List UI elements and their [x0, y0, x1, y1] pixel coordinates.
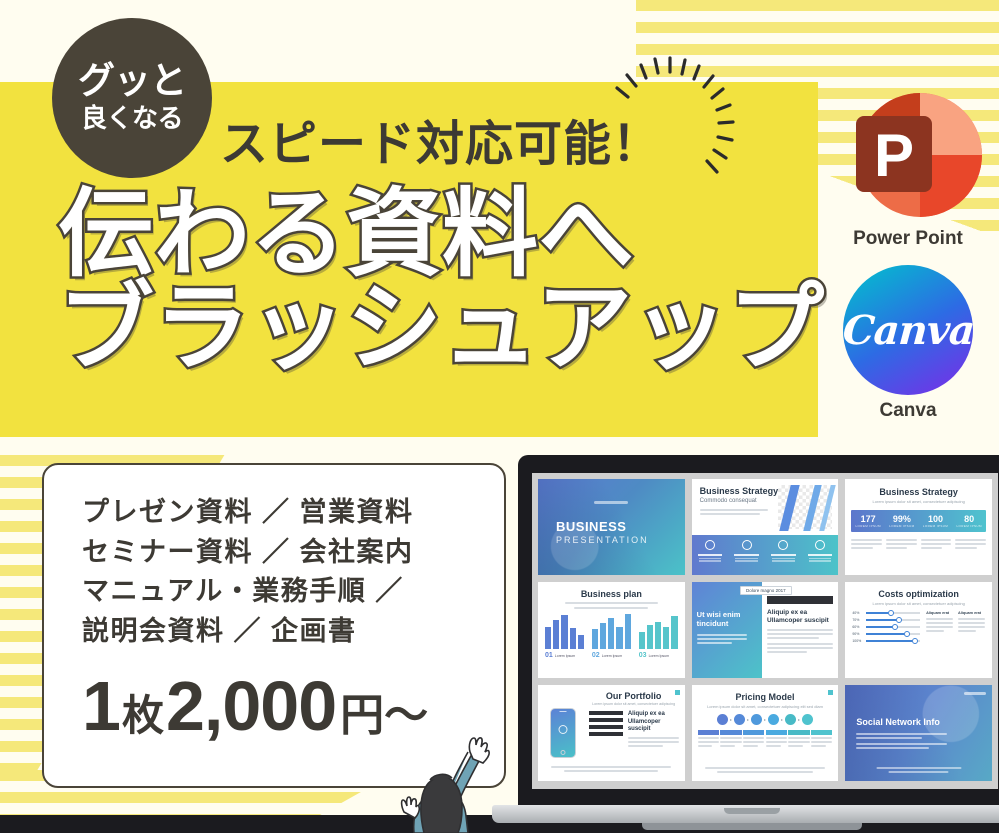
slider-label: 60%: [852, 625, 863, 629]
group-label: Lorem Ipsum: [555, 654, 575, 658]
accent-square: [675, 690, 680, 695]
stat-value: 99%: [885, 514, 919, 524]
slide-tag: Dolore magno 2017: [740, 586, 792, 595]
sub-headline: スピード対応可能！: [220, 104, 661, 174]
slide-logo-placeholder: [594, 501, 628, 504]
slide-thumbnail[interactable]: Business Strategy Commodo consequat: [692, 479, 839, 575]
slide-title: Business Strategy: [851, 487, 986, 497]
slide-thumbnail[interactable]: Ut wisi enim tincidunt Dolore magno 2017: [692, 582, 839, 678]
slide-title: BUSINESS: [556, 519, 626, 534]
link-icon: [785, 714, 796, 725]
slide-thumbnail[interactable]: BUSINESS PRESENTATION: [538, 479, 685, 575]
slide-right-heading: Aliquip ex ea: [628, 711, 679, 719]
stat-value: 100: [919, 514, 953, 524]
headline-line-1: 伝わる資料へ: [58, 188, 824, 282]
slide-thumbnail-grid: BUSINESS PRESENTATION Business Strategy …: [538, 479, 992, 781]
check-icon: [802, 714, 813, 725]
main-headline: 伝わる資料へ ブラッシュアップ: [58, 188, 824, 376]
group-label: Lorem Ipsum: [602, 654, 622, 658]
column-heading: Aliquam erat: [926, 611, 953, 615]
thumbs-up-icon: [751, 714, 762, 725]
stat-label: LOREM IPSUM: [851, 524, 885, 528]
headline-line-2: ブラッシュアップ: [58, 282, 824, 376]
slide-subtitle: Lorem ipsum dolor sit amet, consectetuer…: [698, 704, 833, 709]
slide-subtitle: PRESENTATION: [556, 535, 649, 545]
clock-icon: [742, 540, 752, 550]
powerpoint-icon: P: [832, 88, 984, 223]
slide-title: Business plan: [545, 589, 678, 599]
accent-square: [828, 690, 833, 695]
pie-chart-icon: [705, 540, 715, 550]
laptop-body: BUSINESS PRESENTATION Business Strategy …: [518, 455, 999, 805]
service-line-3: マニュアル・業務手順 ／: [82, 572, 504, 612]
price-quantity: 1: [82, 666, 120, 746]
price-currency: 円: [340, 679, 384, 743]
powerpoint-letter: P: [874, 122, 914, 189]
document-icon: [768, 714, 779, 725]
slide-thumbnail[interactable]: Business plan: [538, 582, 685, 678]
laptop-screen: BUSINESS PRESENTATION Business Strategy …: [532, 473, 998, 789]
slide-thumbnail[interactable]: Our Portfolio Lorem ipsum dolor sit amet…: [538, 685, 685, 781]
group-number: 03: [639, 652, 647, 659]
slide-right-heading-2: Ullamcoper suscipit: [628, 719, 679, 734]
slide-title: Pricing Model: [698, 692, 833, 702]
slide-thumbnail[interactable]: Costs optimization Lorem ipsum dolor sit…: [845, 582, 992, 678]
woman-raising-hand-illustration: [380, 700, 530, 833]
slider-label: 90%: [852, 632, 863, 636]
slide-subtitle: Lorem ipsum dolor sit amet, consectetuer…: [851, 499, 986, 504]
tool-powerpoint: P Power Point: [823, 88, 993, 250]
laptop-foot: [642, 823, 862, 830]
tool-canva-label: Canva: [823, 400, 993, 422]
group-label: Lorem Ipsum: [649, 654, 669, 658]
highlight-badge: グッと 良くなる: [52, 18, 212, 178]
slide-right-heading-2: Ullamcoper suscipit: [767, 617, 833, 625]
badge-line-2: 良くなる: [81, 104, 183, 134]
slide-heading: Ut wisi enim: [697, 610, 741, 619]
column-heading: Aliquam erat: [958, 611, 985, 615]
service-line-2: セミナー資料 ／ 会社案内: [82, 533, 504, 573]
slide-thumbnail[interactable]: Pricing Model Lorem ipsum dolor sit amet…: [692, 685, 839, 781]
play-icon: [778, 540, 788, 550]
stat-value: 177: [851, 514, 885, 524]
slide-thumbnail[interactable]: Social Network Info: [845, 685, 992, 781]
stat-value: 80: [952, 514, 986, 524]
slider-label: 40%: [852, 611, 863, 615]
slide-title: Our Portfolio: [589, 691, 679, 701]
slider-label: 70%: [852, 618, 863, 622]
gear-icon: [734, 714, 745, 725]
stat-label: LOREM IPSUM: [952, 524, 986, 528]
stat-label: LOREM IPSUM: [885, 524, 919, 528]
slide-thumbnail[interactable]: Business Strategy Lorem ipsum dolor sit …: [845, 479, 992, 575]
price-amount: 2,000: [166, 666, 336, 746]
service-line-4: 説明会資料 ／ 企画書: [82, 612, 504, 652]
smartphone-icon: [550, 708, 576, 758]
laptop-mockup: BUSINESS PRESENTATION Business Strategy …: [492, 455, 999, 833]
banner-canvas: グッと 良くなる スピード対応可能！ 伝わる資料へ ブラッシュアップ: [0, 0, 999, 833]
stat-label: LOREM IPSUM: [919, 524, 953, 528]
slide-logo-placeholder: [964, 692, 986, 695]
badge-line-1: グッと: [78, 62, 186, 101]
slide-title: Costs optimization: [852, 589, 985, 599]
slide-subtitle: Lorem ipsum dolor sit amet, consectetuer…: [589, 702, 679, 706]
canva-icon: Canva: [843, 265, 973, 395]
tool-canva: Canva Canva: [823, 265, 993, 422]
slide-heading-2: tincidunt: [697, 619, 741, 628]
group-number: 01: [545, 652, 553, 659]
refresh-icon: [815, 540, 825, 550]
slide-title: Social Network Info: [856, 717, 940, 727]
slider-label: 100%: [852, 639, 863, 643]
canva-wordmark: Canva: [841, 307, 975, 354]
tool-powerpoint-label: Power Point: [823, 228, 993, 250]
slide-right-heading: Aliquip ex ea: [767, 609, 833, 617]
cloud-icon: [717, 714, 728, 725]
slide-subtitle: Lorem ipsum dolor sit amet, consectetuer…: [852, 601, 985, 606]
group-number: 02: [592, 652, 600, 659]
service-line-1: プレゼン資料 ／ 営業資料: [82, 493, 504, 533]
price-quantity-unit: 枚: [122, 682, 164, 743]
laptop-notch: [724, 808, 780, 814]
